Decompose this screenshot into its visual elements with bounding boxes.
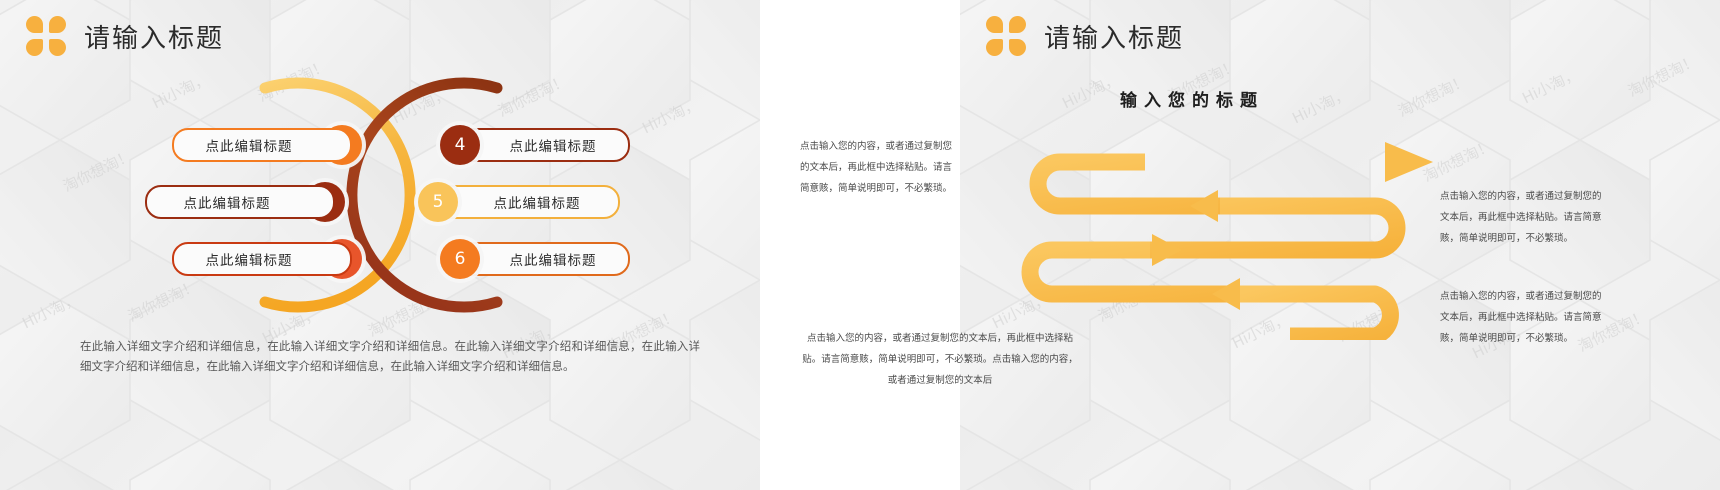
text-block-bottom-left: 点击输入您的内容，或者通过复制您的文本后，再此框中选择粘贴。请言简意赅，简单说明…: [800, 328, 1080, 391]
arrow-head-left-row4: [1212, 278, 1240, 310]
item-number-badge: 4: [440, 125, 480, 165]
slide-left: Hi小淘， 淘你想淘！ Hi小淘， 淘你想淘！ Hi小淘， Hi小淘， 淘你想淘…: [0, 0, 760, 490]
watermark: Hi小淘，: [1518, 63, 1582, 108]
list-item[interactable]: 点此编辑标题 2: [145, 182, 345, 222]
text-block-top-right: 点击输入您的内容，或者通过复制您的文本后，再此框中选择粘贴。请言简意赅，简单说明…: [1440, 186, 1608, 249]
item-label: 点此编辑标题: [184, 192, 271, 212]
header-right: 请输入标题: [986, 16, 1184, 56]
slide-divider: [760, 0, 960, 490]
item-pill[interactable]: 点此编辑标题: [172, 128, 352, 162]
header-left: 请输入标题: [26, 16, 224, 56]
list-item[interactable]: 点此编辑标题 1: [172, 125, 362, 165]
item-label: 点此编辑标题: [510, 135, 597, 155]
list-item[interactable]: 4 点此编辑标题: [440, 125, 630, 165]
section-heading: 输入您的标题: [1120, 86, 1264, 111]
item-number-badge: 5: [418, 182, 458, 222]
list-item[interactable]: 点此编辑标题 3: [172, 239, 362, 279]
text-block-top-left: 点击输入您的内容，或者通过复制您的文本后，再此框中选择粘贴。请言简意赅，简单说明…: [800, 136, 960, 199]
arrow-head-left-row2: [1190, 190, 1218, 222]
page-title: 请输入标题: [1044, 18, 1184, 55]
item-number-badge: 6: [440, 239, 480, 279]
text-block-bottom-right: 点击输入您的内容，或者通过复制您的文本后，再此框中选择粘贴。请言简意赅，简单说明…: [1440, 286, 1608, 349]
list-item[interactable]: 6 点此编辑标题: [440, 239, 630, 279]
caption-paragraph: 在此输入详细文字介绍和详细信息，在此输入详细文字介绍和详细信息。在此输入详细文字…: [80, 336, 700, 376]
serpentine-arrow-diagram: [990, 110, 1440, 340]
arrow-head-right: [1385, 142, 1433, 182]
item-label: 点此编辑标题: [494, 192, 581, 212]
slide-deck: Hi小淘， 淘你想淘！ Hi小淘， 淘你想淘！ Hi小淘， Hi小淘， 淘你想淘…: [0, 0, 1720, 490]
item-label: 点此编辑标题: [206, 135, 293, 155]
arrow-head-right-row3: [1152, 234, 1182, 266]
list-item[interactable]: 5 点此编辑标题: [418, 182, 620, 222]
item-pill[interactable]: 点此编辑标题: [172, 242, 352, 276]
flower-logo-icon: [26, 16, 66, 56]
six-item-diagram: 点此编辑标题 1 点此编辑标题 2 点此编辑标题 3: [0, 70, 760, 320]
watermark: 淘你想淘！: [1624, 50, 1701, 102]
page-title: 请输入标题: [84, 18, 224, 55]
watermark: Hi小淘，: [1058, 68, 1122, 113]
item-pill[interactable]: 点此编辑标题: [145, 185, 335, 219]
item-label: 点此编辑标题: [510, 249, 597, 269]
item-label: 点此编辑标题: [206, 249, 293, 269]
flower-logo-icon: [986, 16, 1026, 56]
